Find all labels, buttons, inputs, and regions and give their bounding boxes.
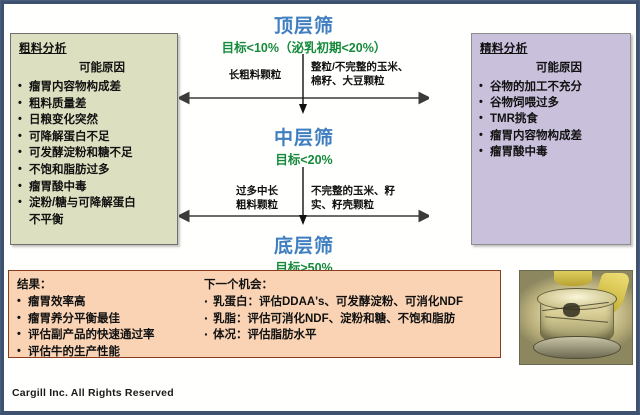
slide-canvas: 粗料分析 可能原因 瘤胃内容物构成差 粗料质量差 日粮变化突然 可降解蛋白不足 …: [0, 0, 640, 415]
top-sieve-heading: 顶层筛: [174, 11, 434, 38]
list-item: 谷物的加工不充分: [479, 79, 623, 95]
top-right-flow-label: 整粒/不完整的玉米、 棉籽、大豆颗粒: [311, 61, 439, 88]
list-item: TMR挑食: [479, 111, 623, 127]
middle-sieve-goal: 目标<20%: [154, 149, 454, 168]
list-item: 可发酵淀粉和糖不足: [18, 145, 170, 162]
frame-top-rail: [1, 1, 639, 4]
list-item: 评估牛的生产性能: [17, 344, 247, 361]
middle-right-flow-label: 不完整的玉米、籽 实、籽壳颗粒: [311, 185, 441, 212]
list-item: 瘤胃酸中毒: [479, 144, 623, 160]
concentrate-panel-subtitle: 可能原因: [479, 59, 623, 75]
frame-right-rail: [636, 1, 639, 411]
list-item: 可降解蛋白不足: [18, 129, 170, 146]
list-item: 瘤胃内容物构成差: [479, 128, 623, 144]
top-left-flow-label: 长粗料颗粒: [203, 69, 307, 83]
list-item: 淀粉/糖与可降解蛋白 不平衡: [18, 195, 170, 228]
summary-box: 结果： 瘤胃效率高 瘤胃养分平衡最佳 评估副产品的快速通过率 评估牛的生产性能 …: [8, 270, 501, 358]
opportunities-list: 乳蛋白：评估DDAA's、可发酵淀粉、可消化NDF 乳脂：评估可消化NDF、淀粉…: [204, 294, 504, 344]
middle-to-bottom-down-arrow-icon: [298, 167, 308, 227]
forage-panel-subtitle: 可能原因: [18, 59, 170, 75]
frame-left-rail: [1, 1, 4, 411]
list-item: 瘤胃内容物构成差: [18, 79, 170, 96]
forage-cause-list: 瘤胃内容物构成差 粗料质量差 日粮变化突然 可降解蛋白不足 可发酵淀粉和糖不足 …: [18, 79, 170, 228]
photo-sieve-base: [533, 336, 620, 358]
list-item: 日粮变化突然: [18, 112, 170, 129]
list-item: 谷物饲喂过多: [479, 95, 623, 111]
list-item: 体况：评估脂肪水平: [204, 327, 504, 344]
photo-top-handle: [554, 270, 592, 286]
concentrate-analysis-panel: 精料分析 可能原因 谷物的加工不充分 谷物饲喂过多 TMR挑食 瘤胃内容物构成差…: [471, 33, 631, 245]
top-to-middle-down-arrow-icon: [298, 54, 308, 116]
concentrate-panel-title: 精料分析: [480, 40, 623, 56]
particle-separator-photo: [519, 270, 633, 365]
opportunities-column: 下一个机会： 乳蛋白：评估DDAA's、可发酵淀粉、可消化NDF 乳脂：评估可消…: [204, 276, 504, 344]
concentrate-cause-list: 谷物的加工不充分 谷物饲喂过多 TMR挑食 瘤胃内容物构成差 瘤胃酸中毒: [479, 79, 623, 160]
bottom-sieve-heading: 底层筛: [174, 231, 434, 258]
list-item: 乳脂：评估可消化NDF、淀粉和糖、不饱和脂肪: [204, 311, 504, 328]
middle-left-flow-label: 过多中长 粗料颗粒: [209, 185, 305, 212]
list-item: 不饱和脂肪过多: [18, 162, 170, 179]
forage-analysis-panel: 粗料分析 可能原因 瘤胃内容物构成差 粗料质量差 日粮变化突然 可降解蛋白不足 …: [10, 33, 178, 245]
list-item: 瘤胃酸中毒: [18, 179, 170, 196]
copyright-footer: Cargill Inc. All Rights Reserved: [12, 387, 174, 399]
forage-panel-title: 粗料分析: [19, 40, 170, 56]
middle-sieve-heading: 中层筛: [174, 123, 434, 150]
opportunities-heading: 下一个机会：: [204, 276, 504, 292]
list-item: 乳蛋白：评估DDAA's、可发酵淀粉、可消化NDF: [204, 294, 504, 311]
list-item: 粗料质量差: [18, 96, 170, 113]
